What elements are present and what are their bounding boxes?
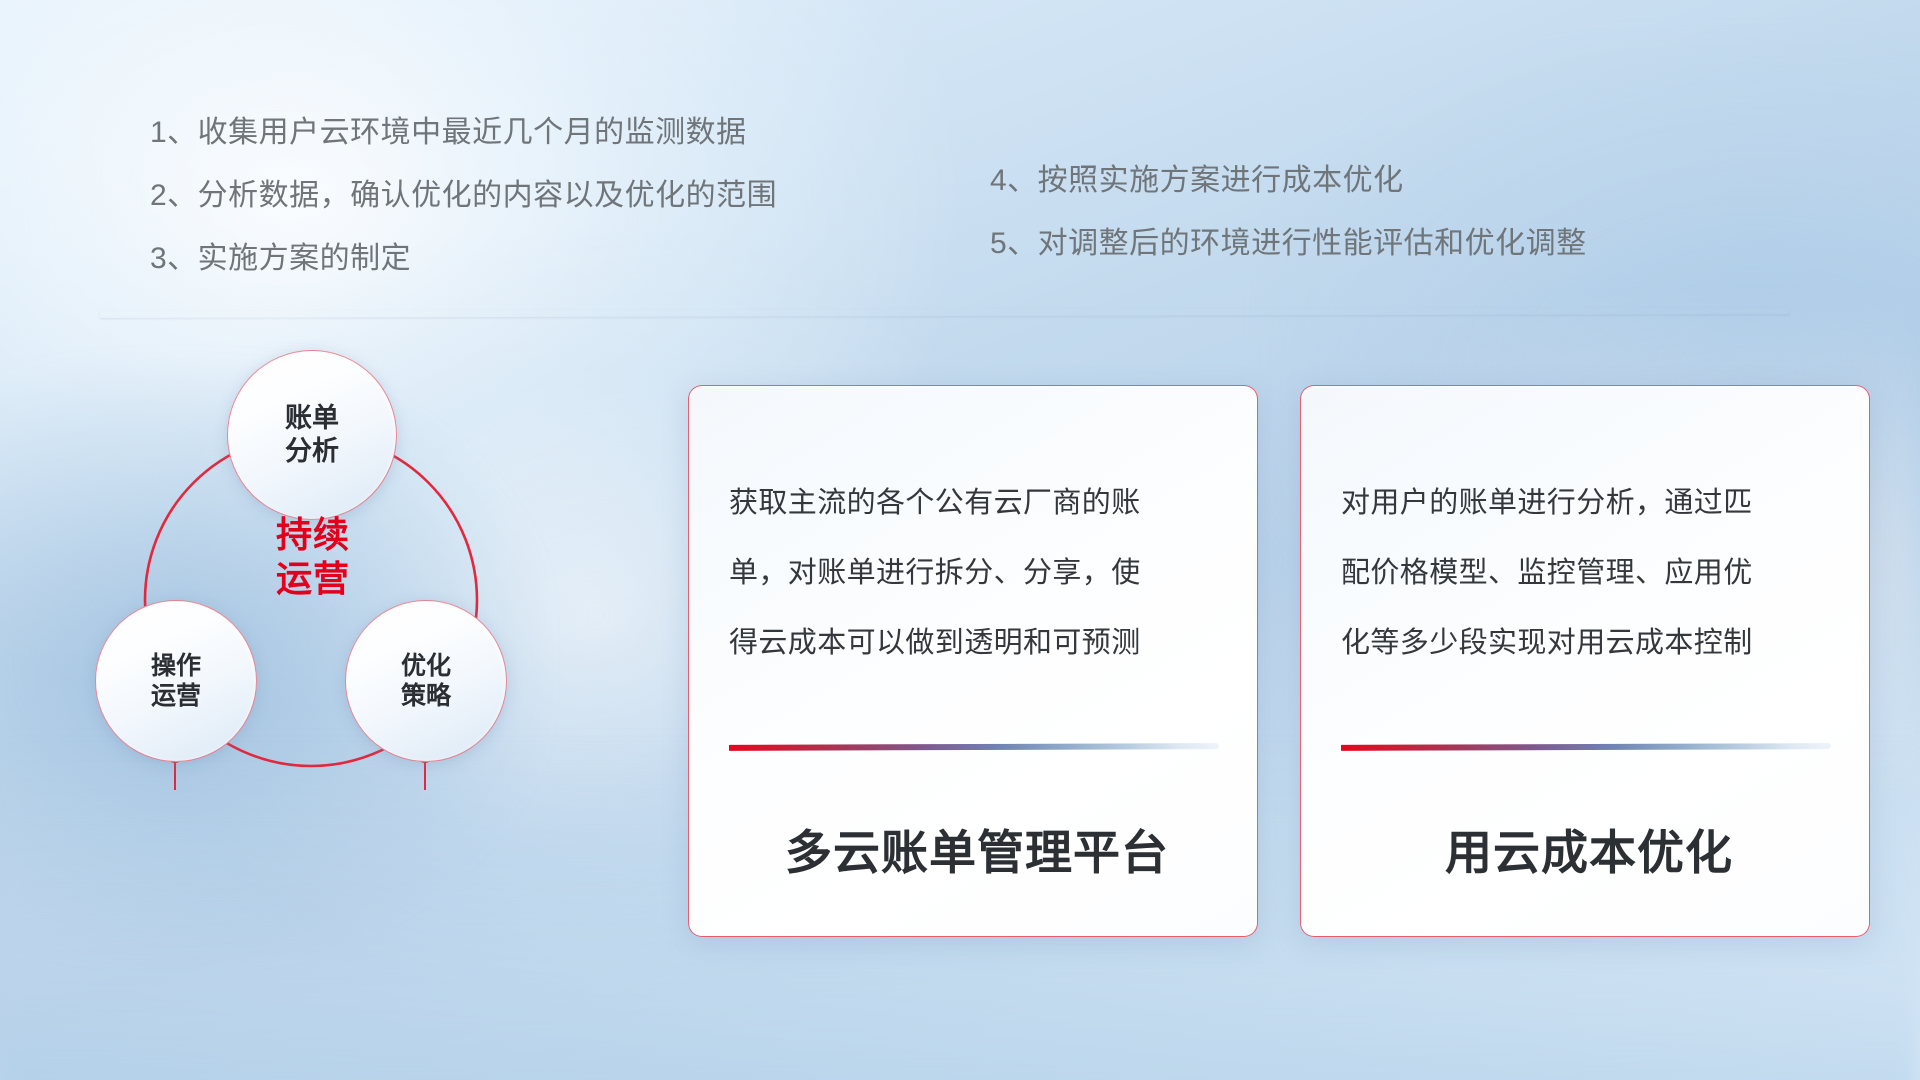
cycle-bubble-operations-line1: 操作 — [151, 651, 201, 682]
cycle-bubble-optimization-strategy[interactable]: 优化 策略 — [345, 600, 507, 762]
card-cloud-cost-optimization[interactable]: 对用户的账单进行分析，通过匹 配价格模型、监控管理、应用优 化等多少段实现对用云… — [1300, 385, 1870, 937]
steps-right-column: 4、按照实施方案进行成本优化 5、对调整后的环境进行性能评估和优化调整 — [990, 166, 1587, 259]
cycle-diagram: 账单 分析 操作 运营 优化 策略 持续 运营 — [95, 350, 625, 930]
card-2-body: 对用户的账单进行分析，通过匹 配价格模型、监控管理、应用优 化等多少段实现对用云… — [1341, 468, 1837, 679]
card-2-body-line1: 对用户的账单进行分析，通过匹 — [1341, 468, 1837, 538]
card-1-body-line1: 获取主流的各个公有云厂商的账 — [729, 468, 1225, 538]
card-2-body-line3: 化等多少段实现对用云成本控制 — [1341, 608, 1837, 678]
cycle-center-label-line2: 运营 — [223, 557, 403, 601]
cycle-center-label: 持续 运营 — [223, 513, 403, 601]
card-2-title: 用云成本优化 — [1341, 814, 1837, 883]
step-item-4: 4、按照实施方案进行成本优化 — [990, 166, 1587, 196]
card-1-body: 获取主流的各个公有云厂商的账 单，对账单进行拆分、分享，使 得云成本可以做到透明… — [729, 468, 1225, 679]
step-item-3: 3、实施方案的制定 — [150, 244, 777, 274]
cycle-center-label-line1: 持续 — [223, 513, 403, 557]
card-2-divider — [1341, 743, 1831, 751]
card-2-body-line2: 配价格模型、监控管理、应用优 — [1341, 538, 1837, 608]
card-1-title: 多云账单管理平台 — [729, 814, 1225, 883]
step-item-2: 2、分析数据，确认优化的内容以及优化的范围 — [150, 181, 777, 211]
cycle-bubble-bill-analysis[interactable]: 账单 分析 — [227, 350, 397, 520]
cycle-bubble-bill-analysis-line1: 账单 — [285, 402, 339, 435]
step-item-1: 1、收集用户云环境中最近几个月的监测数据 — [150, 118, 777, 148]
cycle-bubble-operations-line2: 运营 — [151, 681, 201, 712]
cycle-bubble-optimization-strategy-line1: 优化 — [401, 651, 451, 682]
cycle-bubble-operations[interactable]: 操作 运营 — [95, 600, 257, 762]
card-1-body-line3: 得云成本可以做到透明和可预测 — [729, 608, 1225, 678]
steps-left-column: 1、收集用户云环境中最近几个月的监测数据 2、分析数据，确认优化的内容以及优化的… — [150, 118, 777, 274]
card-1-divider — [729, 743, 1219, 751]
cycle-bubble-bill-analysis-line2: 分析 — [285, 435, 339, 468]
card-multi-cloud-billing-platform[interactable]: 获取主流的各个公有云厂商的账 单，对账单进行拆分、分享，使 得云成本可以做到透明… — [688, 385, 1258, 937]
steps-section: 1、收集用户云环境中最近几个月的监测数据 2、分析数据，确认优化的内容以及优化的… — [0, 118, 1920, 288]
cycle-bubble-optimization-strategy-line2: 策略 — [401, 681, 451, 712]
card-1-body-line2: 单，对账单进行拆分、分享，使 — [729, 538, 1225, 608]
step-item-5: 5、对调整后的环境进行性能评估和优化调整 — [990, 229, 1587, 259]
